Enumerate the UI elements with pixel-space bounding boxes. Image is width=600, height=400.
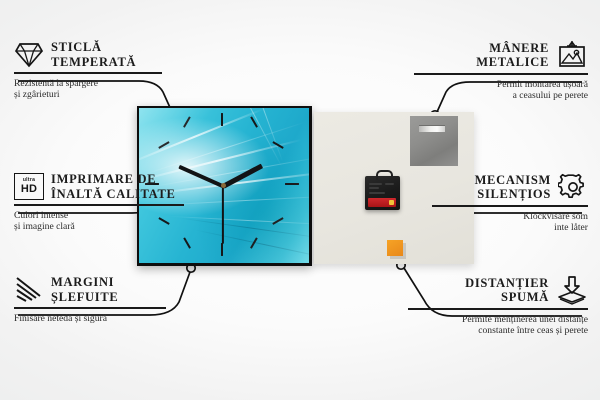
feature-subtitle: Permite menținerea unei distanțe constan… xyxy=(403,314,588,337)
clock-second-hand xyxy=(222,186,224,244)
diamond-icon xyxy=(14,41,44,68)
feature-divider xyxy=(14,72,162,74)
feature-header: MÂNERE METALICE xyxy=(408,40,588,70)
feature-subtitle: Culori intense și imagine clară xyxy=(14,210,190,233)
feature-divider xyxy=(14,307,166,309)
clock-tick xyxy=(183,237,191,248)
mechanism-detail xyxy=(369,192,385,194)
feature-margini-slefuite: MARGINI ȘLEFUITE Finisare netedă și sigu… xyxy=(14,275,184,324)
clock-mechanism xyxy=(365,176,400,210)
feature-header: ultra HD IMPRIMARE DE ÎNALTĂ CALITATE xyxy=(14,172,190,201)
feature-manere-metalice: MÂNERE METALICE Permit montarea ușoară a… xyxy=(408,40,588,101)
spacer-arrow-icon xyxy=(556,275,588,305)
ultra-hd-icon-main-label: HD xyxy=(21,184,37,195)
clock-tick xyxy=(221,113,223,126)
feature-title: DISTANȚIER SPUMĂ xyxy=(465,276,549,305)
clock-tick xyxy=(183,116,191,127)
feature-divider xyxy=(414,73,588,75)
infographic-canvas: STICLĂ TEMPERATĂ Rezistentă la spargere … xyxy=(0,0,600,400)
feature-header: MECANISM SILENȚIOS xyxy=(428,172,588,202)
mechanism-detail xyxy=(369,187,379,189)
clock-center-pin xyxy=(221,183,226,188)
feature-title: IMPRIMARE DE ÎNALTĂ CALITATE xyxy=(51,172,176,201)
feature-subtitle: Finisare netedă și sigură xyxy=(14,313,184,324)
feature-title: MARGINI ȘLEFUITE xyxy=(51,275,118,304)
hanger-slot xyxy=(419,125,445,132)
mechanism-detail xyxy=(369,183,382,185)
mechanism-detail xyxy=(385,183,394,185)
feature-distantier-spuma: DISTANȚIER SPUMĂ Permite menținerea unei… xyxy=(403,275,588,336)
feature-header: STICLĂ TEMPERATĂ xyxy=(14,40,184,69)
feature-imprimare-hd: ultra HD IMPRIMARE DE ÎNALTĂ CALITATE Cu… xyxy=(14,172,190,232)
feature-subtitle: Rezistentă la spargere și zgârieturi xyxy=(14,78,184,101)
clock-tick xyxy=(285,183,299,185)
feature-title: MECANISM SILENȚIOS xyxy=(475,173,551,202)
foam-spacer xyxy=(387,240,403,256)
metal-hanger-plate xyxy=(410,116,458,166)
feature-subtitle: Klockvisare som inte låter xyxy=(428,211,588,234)
feature-title: STICLĂ TEMPERATĂ xyxy=(51,40,136,69)
feather-shadow xyxy=(180,218,309,240)
feature-divider xyxy=(14,204,184,206)
feature-title: MÂNERE METALICE xyxy=(476,41,549,70)
feature-divider xyxy=(432,205,588,207)
mechanism-hanging-loop xyxy=(376,170,393,180)
feature-mecanism-silentios: MECANISM SILENȚIOS Klockvisare som inte … xyxy=(428,172,588,233)
feature-subtitle: Permit montarea ușoară a ceasului pe per… xyxy=(408,79,588,102)
feather-streak xyxy=(139,108,264,166)
clock-hour-hand xyxy=(222,164,263,189)
picture-hanger-icon xyxy=(556,40,588,70)
clock-tick xyxy=(221,243,223,256)
ultra-hd-icon: ultra HD xyxy=(14,173,44,200)
feature-sticla-temperata: STICLĂ TEMPERATĂ Rezistentă la spargere … xyxy=(14,40,184,100)
feature-header: DISTANȚIER SPUMĂ xyxy=(403,275,588,305)
battery xyxy=(368,198,396,207)
feature-header: MARGINI ȘLEFUITE xyxy=(14,275,184,304)
feature-divider xyxy=(408,308,588,310)
gear-icon xyxy=(558,172,588,202)
polished-edges-icon xyxy=(14,276,44,303)
